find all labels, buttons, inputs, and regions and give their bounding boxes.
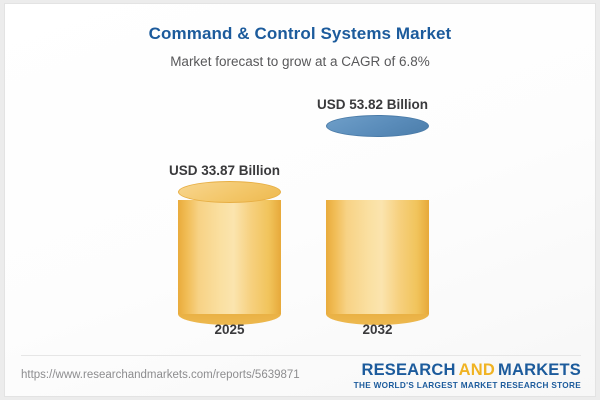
logo-and-text: AND: [459, 361, 495, 379]
value-label-2025: USD 33.87 Billion: [169, 163, 280, 178]
report-url[interactable]: https://www.researchandmarkets.com/repor…: [21, 369, 300, 381]
cylinder-2032-body-base: [326, 200, 429, 314]
year-label-2025: 2025: [178, 322, 281, 337]
research-and-markets-logo[interactable]: RESEARCHANDMARKETS THE WORLD'S LARGEST M…: [354, 362, 581, 390]
cylinder-2025-body: [178, 200, 281, 314]
bar-group-2032: USD 53.82 Billion 2032: [326, 4, 429, 354]
logo-tagline: THE WORLD'S LARGEST MARKET RESEARCH STOR…: [354, 381, 581, 390]
value-label-2032: USD 53.82 Billion: [317, 97, 428, 112]
cylinder-2032[interactable]: [326, 126, 429, 314]
logo-research-text: RESEARCH: [361, 361, 455, 379]
logo-wordmark: RESEARCHANDMARKETS: [354, 362, 581, 379]
chart-card: Command & Control Systems Market Market …: [4, 3, 596, 397]
bar-group-2025: USD 33.87 Billion 2025: [178, 4, 281, 354]
logo-markets-text: MARKETS: [498, 361, 581, 379]
year-label-2032: 2032: [326, 322, 429, 337]
cylinder-2032-top: [326, 115, 429, 137]
cylinder-2025[interactable]: [178, 192, 281, 314]
cylinder-2025-top: [178, 181, 281, 203]
cylinder-2032-body-growth: [326, 126, 429, 200]
chart-plot-area: USD 33.87 Billion 2025 USD 53.82 Billion…: [5, 4, 596, 354]
footer-divider: [21, 355, 581, 356]
